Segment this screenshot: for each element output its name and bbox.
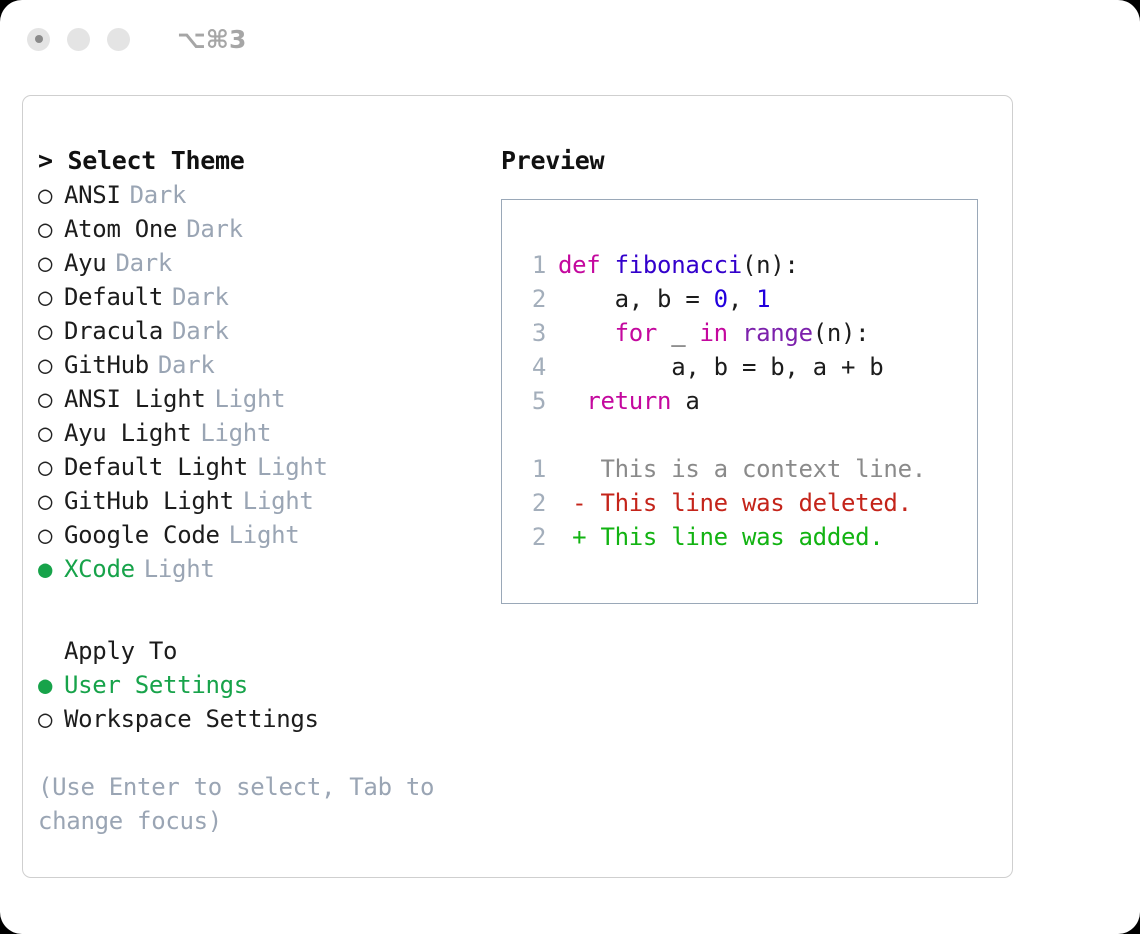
code-token-plain: a, b = (558, 285, 714, 313)
panel-columns: > Select Theme ○ANSIDark○Atom OneDark○Ay… (23, 96, 1012, 877)
code-token-plain (558, 319, 615, 347)
code-token-plain: , (728, 285, 756, 313)
theme-item-8[interactable]: ○Default LightLight (38, 450, 488, 484)
code-line-3: 4 a, b = b, a + b (520, 350, 977, 384)
apply-to-heading: Apply To (38, 634, 488, 668)
code-token-kw: for (615, 319, 657, 347)
theme-item-label: Dracula (64, 314, 163, 348)
title-bar: ⌥⌘3 (0, 0, 1140, 78)
radio-selected-icon: ● (38, 552, 64, 586)
theme-item-tag: Dark (115, 246, 172, 280)
radio-unselected-icon: ○ (38, 382, 64, 416)
theme-item-2[interactable]: ○AyuDark (38, 246, 488, 280)
code-line-number: 3 (520, 316, 546, 350)
code-line-content: for _ in range(n): (558, 316, 869, 350)
code-line-4: 5 return a (520, 384, 977, 418)
theme-item-tag: Light (215, 382, 286, 416)
diff-sample: 1 This is a context line.2 - This line w… (520, 452, 977, 554)
code-token-plain: a (671, 387, 699, 415)
code-token-plain: a, b = b, a + b (558, 353, 883, 381)
app-window: ⌥⌘3 > Select Theme ○ANSIDark○Atom OneDar… (0, 0, 1140, 934)
code-token-plain (558, 387, 586, 415)
apply-to-list: ●User Settings○Workspace Settings (38, 668, 488, 736)
theme-item-label: XCode (64, 552, 135, 586)
code-token-plain (728, 319, 742, 347)
code-sample: 1def fibonacci(n):2 a, b = 0, 13 for _ i… (520, 248, 977, 418)
theme-item-6[interactable]: ○ANSI LightLight (38, 382, 488, 416)
code-token-fn: fibonacci (615, 251, 742, 279)
diff-line-content-ctx: This is a context line. (558, 452, 926, 486)
apply-to-item-0[interactable]: ●User Settings (38, 668, 488, 702)
radio-unselected-icon: ○ (38, 314, 64, 348)
theme-item-tag: Light (257, 450, 328, 484)
theme-item-label: GitHub Light (64, 484, 234, 518)
theme-item-tag: Dark (158, 348, 215, 382)
code-line-1: 2 a, b = 0, 1 (520, 282, 977, 316)
code-line-number: 1 (520, 248, 546, 282)
code-line-number: 4 (520, 350, 546, 384)
code-token-plain: (n): (742, 251, 799, 279)
radio-unselected-icon: ○ (38, 416, 64, 450)
theme-list: ○ANSIDark○Atom OneDark○AyuDark○DefaultDa… (38, 178, 488, 586)
code-line-content: def fibonacci(n): (558, 248, 799, 282)
code-token-call: range (742, 319, 813, 347)
theme-item-10[interactable]: ○Google CodeLight (38, 518, 488, 552)
theme-item-label: GitHub (64, 348, 149, 382)
radio-unselected-icon: ○ (38, 702, 64, 736)
diff-line-2: 2 + This line was added. (520, 520, 977, 554)
preview-box: 1def fibonacci(n):2 a, b = 0, 13 for _ i… (501, 199, 978, 604)
keyboard-hint-text: (Use Enter to select, Tab to change focu… (38, 770, 438, 838)
window-controls (27, 28, 130, 51)
diff-line-number: 1 (520, 452, 546, 486)
theme-item-tag: Dark (172, 314, 229, 348)
theme-item-label: Default Light (64, 450, 248, 484)
code-token-plain: _ (657, 319, 699, 347)
code-diff-separator (520, 418, 977, 452)
theme-item-label: ANSI Light (64, 382, 206, 416)
radio-unselected-icon: ○ (38, 348, 64, 382)
theme-selection-column: > Select Theme ○ANSIDark○Atom OneDark○Ay… (38, 144, 488, 838)
theme-item-label: Ayu Light (64, 416, 191, 450)
window-dot-active-icon[interactable] (27, 28, 50, 51)
theme-item-11[interactable]: ●XCodeLight (38, 552, 488, 586)
code-token-num: 1 (756, 285, 770, 313)
theme-item-label: Google Code (64, 518, 220, 552)
preview-heading: Preview (501, 144, 1001, 178)
code-line-number: 5 (520, 384, 546, 418)
theme-item-4[interactable]: ○DraculaDark (38, 314, 488, 348)
theme-item-7[interactable]: ○Ayu LightLight (38, 416, 488, 450)
theme-item-label: Default (64, 280, 163, 314)
apply-to-item-label: Workspace Settings (64, 702, 319, 736)
diff-line-content-del: - This line was deleted. (558, 486, 912, 520)
window-dot-third-icon[interactable] (107, 28, 130, 51)
radio-unselected-icon: ○ (38, 484, 64, 518)
theme-item-5[interactable]: ○GitHubDark (38, 348, 488, 382)
diff-line-1: 2 - This line was deleted. (520, 486, 977, 520)
code-line-2: 3 for _ in range(n): (520, 316, 977, 350)
radio-unselected-icon: ○ (38, 280, 64, 314)
apply-to-item-1[interactable]: ○Workspace Settings (38, 702, 488, 736)
theme-item-tag: Light (200, 416, 271, 450)
theme-item-9[interactable]: ○GitHub LightLight (38, 484, 488, 518)
theme-item-tag: Dark (186, 212, 243, 246)
theme-item-3[interactable]: ○DefaultDark (38, 280, 488, 314)
code-line-content: a, b = 0, 1 (558, 282, 770, 316)
code-token-plain: (n): (813, 319, 870, 347)
dot-inner (35, 35, 43, 43)
select-theme-heading: > Select Theme (38, 144, 488, 178)
preview-column: Preview 1def fibonacci(n):2 a, b = 0, 13… (501, 144, 1001, 604)
apply-to-item-label: User Settings (64, 668, 248, 702)
theme-item-tag: Light (243, 484, 314, 518)
diff-line-number: 2 (520, 520, 546, 554)
radio-unselected-icon: ○ (38, 518, 64, 552)
theme-item-tag: Dark (130, 178, 187, 212)
code-token-kw: return (586, 387, 671, 415)
code-token-kw: def (558, 251, 615, 279)
radio-unselected-icon: ○ (38, 212, 64, 246)
diff-line-content-add: + This line was added. (558, 520, 883, 554)
list-spacer (38, 586, 488, 634)
theme-item-0[interactable]: ○ANSIDark (38, 178, 488, 212)
radio-unselected-icon: ○ (38, 246, 64, 280)
code-line-content: a, b = b, a + b (558, 350, 883, 384)
code-token-kw: in (700, 319, 728, 347)
theme-item-label: Ayu (64, 246, 106, 280)
code-line-0: 1def fibonacci(n): (520, 248, 977, 282)
hint-spacer (38, 736, 488, 770)
theme-item-label: ANSI (64, 178, 121, 212)
theme-item-tag: Light (229, 518, 300, 552)
theme-item-label: Atom One (64, 212, 177, 246)
radio-unselected-icon: ○ (38, 178, 64, 212)
theme-item-tag: Light (144, 552, 215, 586)
window-dot-second-icon[interactable] (67, 28, 90, 51)
theme-item-tag: Dark (172, 280, 229, 314)
keyboard-shortcut-label: ⌥⌘3 (177, 25, 246, 54)
radio-unselected-icon: ○ (38, 450, 64, 484)
theme-item-1[interactable]: ○Atom OneDark (38, 212, 488, 246)
main-panel: > Select Theme ○ANSIDark○Atom OneDark○Ay… (22, 95, 1013, 878)
diff-line-number: 2 (520, 486, 546, 520)
code-token-num: 0 (714, 285, 728, 313)
radio-selected-icon: ● (38, 668, 64, 702)
diff-line-0: 1 This is a context line. (520, 452, 977, 486)
code-line-content: return a (558, 384, 700, 418)
code-line-number: 2 (520, 282, 546, 316)
